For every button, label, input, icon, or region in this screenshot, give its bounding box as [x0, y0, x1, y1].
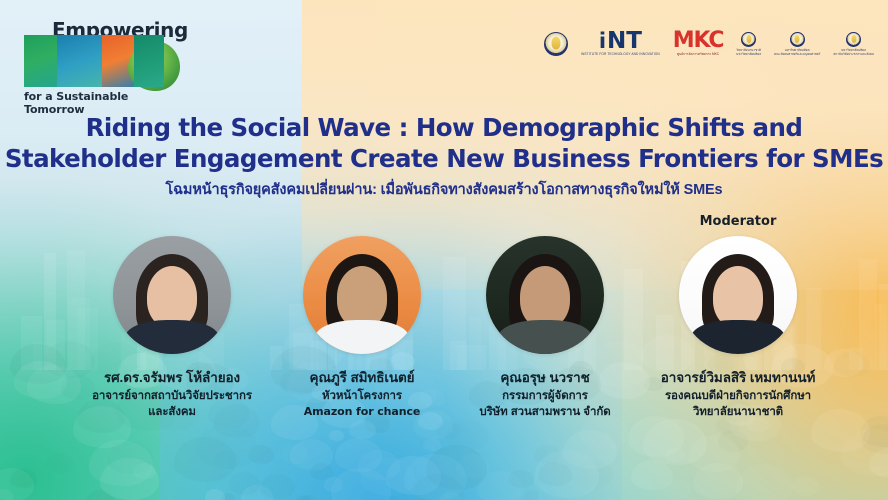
partner-logo-int: iNT INSTITUTE FOR TECHNOLOGY AND INNOVAT…: [581, 32, 660, 56]
partner-logo-royal-seal: [544, 32, 568, 56]
speaker-role-line: กรรมการผู้จัดการ: [445, 389, 645, 404]
int-letter-t: T: [626, 32, 642, 50]
speaker-role-line: อาจารย์จากสถาบันวิจัยประชากร: [72, 389, 272, 404]
speaker-card: คุณอรุษ นวราชกรรมการผู้จัดการบริษัท สวนส…: [445, 236, 645, 419]
foliage-blob: [358, 450, 401, 481]
partner-logo-mkc: MKC ศูนย์การจัดการทรัพยากร MKC: [673, 31, 724, 57]
foliage-blob: [663, 479, 691, 499]
portrait-body: [315, 320, 409, 354]
speaker-name: รศ.ดร.จรัมพร โห้ลำยอง: [72, 366, 272, 388]
university-seal-1-caption: วิทยาลัยนานาชาติ มหาวิทยาลัยมหิดล: [736, 48, 761, 56]
speaker-name: คุณภูรี สมิทธิเนตย์: [262, 366, 462, 388]
foliage-blob: [324, 477, 344, 491]
speaker-card: รศ.ดร.จรัมพร โห้ลำยองอาจารย์จากสถาบันวิจ…: [72, 236, 272, 419]
university-seal-2-icon: [790, 32, 805, 47]
logo-smes-wordmark: S M E s: [24, 35, 186, 87]
int-letter-n: N: [607, 32, 626, 50]
portrait-face: [337, 266, 387, 328]
speaker-name: คุณอรุษ นวราช: [445, 366, 645, 388]
empowering-smes-logo: Empowering S M E s for a Sustainable Tom…: [18, 18, 190, 110]
int-wordmark: iNT: [599, 32, 642, 50]
subtitle-thai: โฉมหน้าธุรกิจยุคสังคมเปลี่ยนผ่าน: เมื่อพ…: [0, 181, 888, 200]
foliage-blob: [45, 453, 73, 473]
royal-seal-icon: [544, 32, 568, 56]
int-caption: INSTITUTE FOR TECHNOLOGY AND INNOVATION: [581, 52, 660, 56]
slide-stage: Empowering S M E s for a Sustainable Tom…: [0, 0, 888, 500]
foliage-blob: [295, 495, 311, 500]
logo-letter-s: S: [24, 35, 61, 87]
university-seal-1-icon: [741, 32, 756, 47]
university-seal-3-caption: มหาวิทยาลัยมหิดล สถาบันวิจัยประชากรและสั…: [833, 48, 874, 56]
header-bar: Empowering S M E s for a Sustainable Tom…: [0, 0, 888, 110]
speaker-card: คุณภูรี สมิทธิเนตย์หัวหน้าโครงการAmazon …: [262, 236, 462, 419]
title-line-1: Riding the Social Wave : How Demographic…: [0, 112, 888, 143]
foliage-blob: [423, 438, 441, 451]
portrait-face: [520, 266, 570, 328]
portrait-body: [691, 320, 785, 354]
speaker-role-line: หัวหน้าโครงการ: [262, 389, 462, 404]
foliage-blob: [107, 441, 153, 474]
speaker-photo: [679, 236, 797, 354]
foliage-blob: [524, 490, 539, 500]
foliage-blob: [736, 464, 793, 500]
foliage-blob: [477, 471, 523, 500]
title-block: Riding the Social Wave : How Demographic…: [0, 112, 888, 200]
foliage-blob: [665, 448, 685, 462]
speaker-role-line: รองคณบดีฝ่ายกิจการนักศึกษา: [638, 389, 838, 404]
mkc-wordmark: MKC: [673, 31, 724, 50]
speaker-row: รศ.ดร.จรัมพร โห้ลำยองอาจารย์จากสถาบันวิจ…: [0, 236, 888, 436]
speaker-photo: [113, 236, 231, 354]
int-letter-i: i: [599, 32, 606, 50]
speaker-role-line: วิทยาลัยนานาชาติ: [638, 405, 838, 420]
speaker-card: อาจารย์วิมลสิริ เหมทานนท์รองคณบดีฝ่ายกิจ…: [638, 236, 838, 419]
foliage-blob: [792, 476, 819, 496]
moderator-label: Moderator: [678, 214, 798, 229]
partner-logo-university-3: มหาวิทยาลัยมหิดล สถาบันวิจัยประชากรและสั…: [833, 32, 874, 57]
foliage-blob: [229, 472, 260, 494]
foliage-blob: [310, 463, 333, 480]
speaker-role-line: Amazon for chance: [262, 405, 462, 420]
speaker-photo: [303, 236, 421, 354]
speaker-role-line: บริษัท สวนสามพราน จำกัด: [445, 405, 645, 420]
speaker-role-line: และสังคม: [72, 405, 272, 420]
portrait-face: [147, 266, 197, 328]
portrait-body: [498, 320, 592, 354]
speaker-photo: [486, 236, 604, 354]
university-seal-3-icon: [846, 32, 861, 47]
title-line-2: Stakeholder Engagement Create New Busine…: [0, 143, 888, 174]
university-seal-2-caption: มหาวิทยาลัยมหิดล คณะสังคมศาสตร์และมนุษยศ…: [774, 48, 820, 56]
portrait-body: [125, 320, 219, 354]
partner-logo-university-2: มหาวิทยาลัยมหิดล คณะสังคมศาสตร์และมนุษยศ…: [774, 32, 820, 57]
speaker-name: อาจารย์วิมลสิริ เหมทานนท์: [638, 366, 838, 388]
portrait-face: [713, 266, 763, 328]
logo-letter-s2: s: [134, 35, 164, 87]
foliage-blob: [205, 489, 225, 500]
foliage-blob: [260, 474, 295, 499]
partner-logo-row: iNT INSTITUTE FOR TECHNOLOGY AND INNOVAT…: [544, 22, 874, 66]
partner-logo-university-1: วิทยาลัยนานาชาติ มหาวิทยาลัยมหิดล: [736, 32, 761, 57]
